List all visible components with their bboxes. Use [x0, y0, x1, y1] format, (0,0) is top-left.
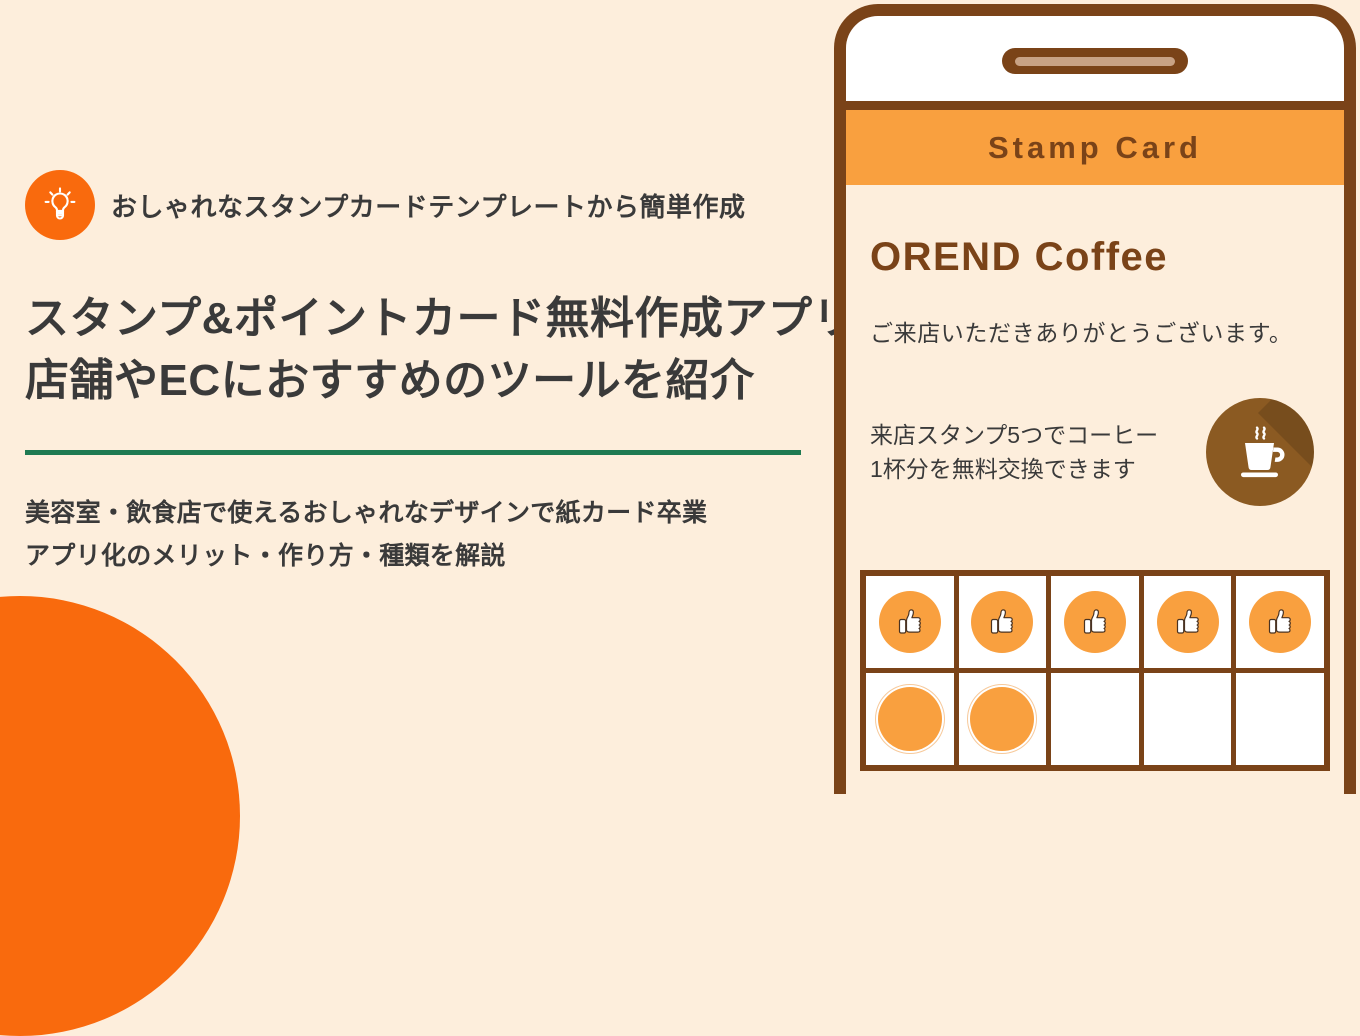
- filled-dot-icon: [970, 687, 1034, 751]
- headline-line-2: 店舗やECにおすすめのツールを紹介: [25, 350, 825, 412]
- speaker-grille-icon: [1002, 48, 1188, 74]
- stamp-cell[interactable]: [1236, 673, 1324, 765]
- reward-row: 来店スタンプ5つでコーヒー 1杯分を無料交換できます: [870, 398, 1320, 506]
- page-title: スタンプ&ポイントカード無料作成アプリ 店舗やECにおすすめのツールを紹介: [25, 288, 825, 413]
- stamp-cell[interactable]: [1144, 576, 1232, 668]
- welcome-message: ご来店いただきありがとうございます。: [870, 314, 1320, 348]
- stamp-cell[interactable]: [959, 576, 1047, 668]
- eyebrow-row: おしゃれなスタンプカードテンプレートから簡単作成: [25, 170, 745, 240]
- speaker-grille-inner: [1015, 57, 1175, 66]
- stamp-cell[interactable]: [1236, 576, 1324, 668]
- thumbs-up-icon: [971, 591, 1033, 653]
- filled-dot-icon: [878, 687, 942, 751]
- stamp-cell[interactable]: [866, 673, 954, 765]
- lightbulb-icon: [25, 170, 95, 240]
- reward-description: 来店スタンプ5つでコーヒー 1杯分を無料交換できます: [870, 418, 1158, 486]
- stamp-cell[interactable]: [959, 673, 1047, 765]
- subcopy-line-2: アプリ化のメリット・作り方・種類を解説: [25, 535, 815, 578]
- app-header: Stamp Card: [846, 101, 1344, 185]
- divider: [25, 450, 801, 455]
- left-content-column: おしゃれなスタンプカードテンプレートから簡単作成 スタンプ&ポイントカード無料作…: [0, 0, 830, 780]
- reward-line-1: 来店スタンプ5つでコーヒー: [870, 418, 1158, 452]
- thumbs-up-icon: [1249, 591, 1311, 653]
- thumbs-up-icon: [1064, 591, 1126, 653]
- stamp-cell[interactable]: [866, 576, 954, 668]
- shop-name: OREND Coffee: [870, 235, 1320, 280]
- app-header-title: Stamp Card: [988, 130, 1202, 166]
- subcopy: 美容室・飲食店で使えるおしゃれなデザインで紙カード卒業 アプリ化のメリット・作り…: [25, 492, 815, 578]
- phone-mockup: Stamp Card OREND Coffee ご来店いただきありがとうございま…: [834, 4, 1356, 794]
- reward-line-2: 1杯分を無料交換できます: [870, 452, 1158, 486]
- headline-line-1: スタンプ&ポイントカード無料作成アプリ: [25, 288, 825, 350]
- stamp-cell[interactable]: [1144, 673, 1232, 765]
- stamp-card-grid[interactable]: [860, 570, 1330, 771]
- thumbs-up-icon: [879, 591, 941, 653]
- thumbs-up-icon: [1157, 591, 1219, 653]
- coffee-cup-glyph: [1206, 398, 1314, 506]
- stamp-cell[interactable]: [1051, 576, 1139, 668]
- subcopy-line-1: 美容室・飲食店で使えるおしゃれなデザインで紙カード卒業: [25, 492, 815, 535]
- eyebrow-label: おしゃれなスタンプカードテンプレートから簡単作成: [111, 187, 745, 224]
- coffee-cup-icon: [1206, 398, 1314, 506]
- stamp-cell[interactable]: [1051, 673, 1139, 765]
- app-screen: OREND Coffee ご来店いただきありがとうございます。 来店スタンプ5つ…: [846, 185, 1344, 794]
